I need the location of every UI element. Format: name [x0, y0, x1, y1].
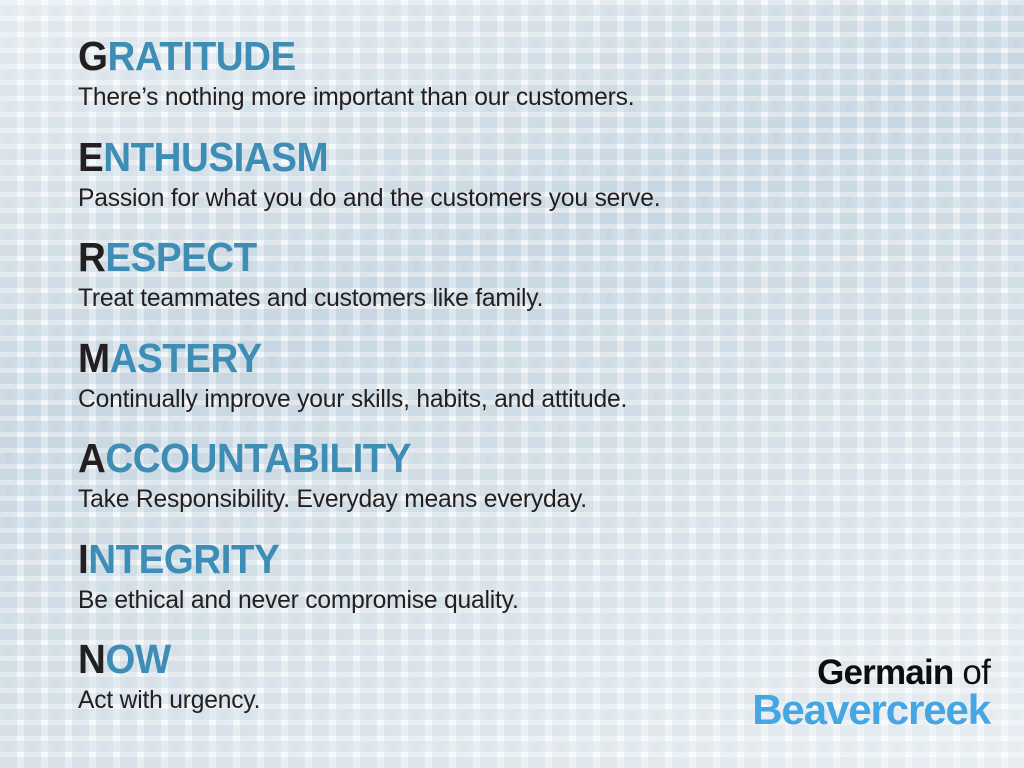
logo-location-name: Beavercreek: [752, 689, 990, 732]
value-block-enthusiasm: ENTHUSIASM Passion for what you do and t…: [78, 137, 978, 214]
value-description-mastery: Continually improve your skills, habits,…: [78, 385, 965, 415]
value-initial-letter: R: [78, 234, 105, 280]
value-heading-remainder: ESPECT: [105, 234, 256, 280]
value-block-integrity: INTEGRITY Be ethical and never compromis…: [78, 539, 978, 616]
value-description-respect: Treat teammates and customers like famil…: [78, 284, 965, 314]
value-block-accountability: ACCOUNTABILITY Take Responsibility. Ever…: [78, 438, 978, 515]
value-block-gratitude: GRATITUDE There’s nothing more important…: [78, 36, 978, 113]
value-description-gratitude: There’s nothing more important than our …: [78, 83, 965, 113]
value-block-respect: RESPECT Treat teammates and customers li…: [78, 237, 978, 314]
value-heading-respect: RESPECT: [78, 237, 924, 278]
value-heading-remainder: RATITUDE: [108, 33, 296, 79]
value-heading-remainder: CCOUNTABILITY: [105, 435, 411, 481]
value-heading-remainder: NTHUSIASM: [103, 134, 328, 180]
core-values-list: GRATITUDE There’s nothing more important…: [78, 36, 978, 740]
value-description-integrity: Be ethical and never compromise quality.: [78, 586, 965, 616]
value-initial-letter: G: [78, 33, 108, 79]
value-initial-letter: A: [78, 435, 105, 481]
value-heading-gratitude: GRATITUDE: [78, 36, 924, 77]
value-heading-remainder: OW: [105, 636, 170, 682]
value-initial-letter: N: [78, 636, 105, 682]
values-poster: GRATITUDE There’s nothing more important…: [0, 0, 1024, 768]
value-initial-letter: M: [78, 335, 110, 381]
value-heading-enthusiasm: ENTHUSIASM: [78, 137, 924, 178]
value-heading-remainder: ASTERY: [110, 335, 262, 381]
value-description-accountability: Take Responsibility. Everyday means ever…: [78, 485, 965, 515]
value-initial-letter: E: [78, 134, 103, 180]
value-description-enthusiasm: Passion for what you do and the customer…: [78, 184, 965, 214]
value-block-mastery: MASTERY Continually improve your skills,…: [78, 338, 978, 415]
value-heading-integrity: INTEGRITY: [78, 539, 924, 580]
value-heading-accountability: ACCOUNTABILITY: [78, 438, 924, 479]
value-heading-mastery: MASTERY: [78, 338, 924, 379]
brand-logo: Germain of Beavercreek: [752, 655, 990, 732]
value-heading-remainder: NTEGRITY: [88, 536, 279, 582]
value-initial-letter: I: [78, 536, 88, 582]
